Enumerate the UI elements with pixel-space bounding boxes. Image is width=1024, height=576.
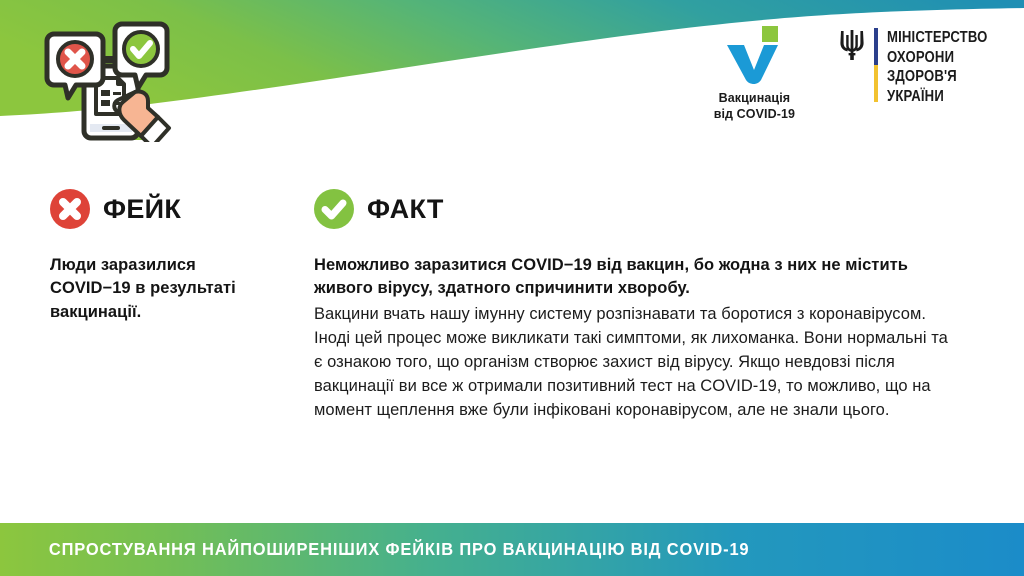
vaccination-logo-caption: Вакцинація від COVID-19 [714,90,795,122]
footer-title: СПРОСТУВАННЯ НАЙПОШИРЕНІШИХ ФЕЙКІВ ПРО В… [0,541,749,559]
ministry-line-2: ОХОРОНИ [887,49,988,68]
fake-heading: ФЕЙК [50,186,268,232]
ministry-logo-divider [874,28,878,102]
footer-band: СПРОСТУВАННЯ НАЙПОШИРЕНІШИХ ФЕЙКІВ ПРО В… [0,523,1024,576]
vaccination-logo: Вакцинація від COVID-19 [695,22,813,122]
logo-zone: Вакцинація від COVID-19 [695,22,1010,137]
fact-body-text: Вакцини вчать нашу імунну систему розпіз… [314,302,950,422]
fake-column: ФЕЙК Люди заразилися COVID−19 в результа… [0,186,268,324]
ministry-line-3: ЗДОРОВ'Я [887,68,988,87]
vaccination-caption-line1: Вакцинація [719,91,791,105]
fake-heading-label: ФЕЙК [103,196,181,223]
ministry-logo-text: МІНІСТЕРСТВО ОХОРОНИ ЗДОРОВ'Я УКРАЇНИ [887,28,1010,106]
infographic-slide: Вакцинація від COVID-19 [0,0,1024,576]
fact-lead-text: Неможливо заразитися COVID−19 від вакцин… [314,254,950,301]
main-content: ФЕЙК Люди заразилися COVID−19 в результа… [0,186,1024,422]
fake-vs-fact-phone-illustration [38,16,173,142]
check-icon [314,189,354,229]
fact-column: ФАКТ Неможливо заразитися COVID−19 від в… [268,186,980,422]
vaccination-v-mark-icon [723,26,785,84]
ministry-of-health-logo: МІНІСТЕРСТВО ОХОРОНИ ЗДОРОВ'Я УКРАЇНИ [839,22,1010,106]
ukraine-trident-emblem-icon [839,28,865,62]
fact-heading: ФАКТ [314,186,950,232]
cross-icon [50,189,90,229]
vaccination-caption-line2: від COVID-19 [714,107,795,121]
fact-heading-label: ФАКТ [367,196,444,223]
fake-claim-text: Люди заразилися COVID−19 в результаті ва… [50,254,268,324]
ministry-line-4: УКРАЇНИ [887,88,988,107]
ministry-line-1: МІНІСТЕРСТВО [887,29,988,48]
